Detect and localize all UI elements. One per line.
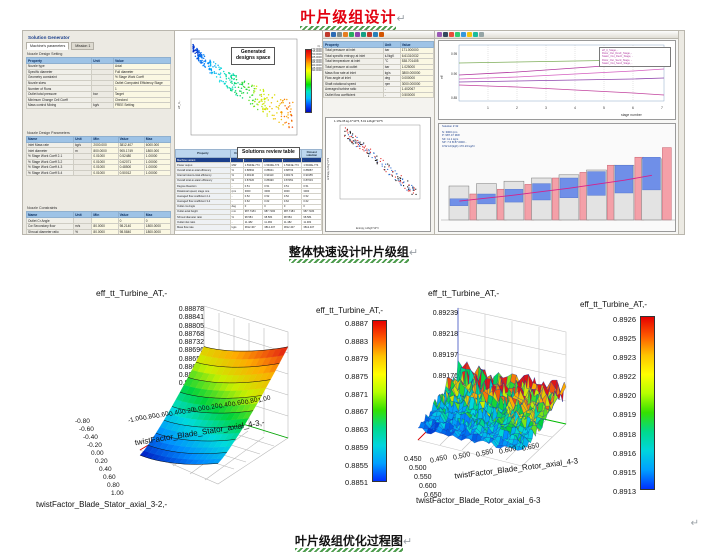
svg-text:0.90: 0.90	[451, 72, 457, 76]
tick-label: 0.00	[91, 450, 104, 457]
tick-label: -0.40	[83, 434, 98, 441]
table-row: % Stage Work Coeff 5-40.010000.500121.00…	[27, 170, 171, 176]
col-closest-solution: Closest solution	[302, 150, 322, 158]
spellcheck-underline	[295, 548, 403, 552]
toolbar	[435, 31, 684, 39]
table-row: Mass flow ratekg/s3812.4073812.4073812.4…	[176, 225, 322, 230]
paragraph-mark: ↵	[396, 13, 406, 25]
panel-solution-generator: Solution Generator Machine's parameters …	[23, 31, 175, 234]
table-row: Mass control Mixingkg/sFREE Setting	[27, 103, 171, 109]
table-row: Shroud diameter ratio%80.000098.58401800…	[27, 229, 171, 234]
caption-figure-2-text: 叶片级组优化过程图	[295, 534, 403, 548]
page-title-text: 叶片级组设计	[300, 9, 396, 26]
svg-text:0.85: 0.85	[451, 96, 457, 100]
caption-figure-2: 叶片级组优化过程图 ↵	[0, 532, 707, 549]
paragraph-mark: ↵	[403, 536, 412, 548]
right-colorbar-title: eff_tt_Turbine_AT,-	[580, 300, 647, 309]
section-label-nozzle-design-setting: Nozzle Design Setting	[27, 52, 171, 56]
chart-stage-bars: Solution # 32 N: 3000 rpm P: 987.47 MW S…	[438, 123, 676, 232]
paragraph-mark: ↵	[409, 247, 418, 259]
svg-text:1: 1	[487, 106, 489, 110]
tick-label: 0.20	[95, 458, 108, 465]
table-row: Inlet Mass ratekg/s2000.0003812.4076000.…	[27, 142, 171, 148]
tick-label: 0.450	[404, 456, 422, 463]
right-colorbar	[640, 316, 655, 490]
print-icon[interactable]	[337, 32, 342, 37]
callout-solutions-review-table: Solutions review table	[237, 147, 300, 159]
scatter-colorbar-ticks: N, - 770.0000 735.0000 700.0000 665.0000…	[311, 46, 322, 73]
callout-generated-designs-space: Generated designs space	[231, 47, 275, 65]
settings-icon[interactable]	[361, 32, 366, 37]
table-row: Outlet flow coefficient-0.500000	[324, 92, 434, 98]
table-row: % Stage Work Coeff 3-20.010000.620711.00…	[27, 159, 171, 165]
svg-text:4: 4	[574, 106, 576, 110]
tab-machines-parameters[interactable]: Machine's parameters	[26, 42, 69, 50]
panel-stage-charts: 0.95 0.90 0.85 eff 12 34 56 7 stage numb…	[435, 31, 684, 234]
refresh-icon[interactable]	[379, 32, 384, 37]
table-nozzle-design-setting: Property Unit Value Nozzle typeAxial Spe…	[26, 57, 171, 109]
chart-stage-efficiency: 0.95 0.90 0.85 eff 12 34 56 7 stage numb…	[438, 40, 676, 120]
tick-label: 0.550	[414, 474, 432, 481]
toolbar	[323, 31, 434, 39]
run-icon[interactable]	[343, 32, 348, 37]
table-nozzle-design-parameters: Name Unit Min Value Max Inlet Mass ratek…	[26, 136, 171, 177]
grid-icon[interactable]	[455, 32, 460, 37]
section-label-nozzle-design-parameters: Nozzle Design Parameters	[27, 131, 171, 135]
panel-title-solution-generator: Solution Generator	[26, 34, 171, 41]
tick-label: 0.650	[424, 492, 442, 499]
hs-scatter-svg	[326, 123, 430, 213]
tick-label: 0.500	[409, 465, 427, 472]
tab-bar: Machine's parameters Mission 1	[26, 42, 171, 50]
svg-text:7: 7	[661, 106, 663, 110]
tick-label: 0.60	[103, 474, 116, 481]
svg-text:stage number: stage number	[621, 113, 643, 117]
scatter-y-axis-label: eff_tt,-	[177, 101, 181, 109]
left-colorbar-ticks: 0.8887 0.8883 0.8879 0.8875 0.8871 0.886…	[316, 320, 368, 497]
tab-mission-1[interactable]: Mission 1	[71, 42, 94, 50]
marker-icon[interactable]	[467, 32, 472, 37]
right-plot-colorbar-group: eff_tt_Turbine_AT,- 0.8926 0.8925 0.8923…	[580, 300, 670, 500]
right-colorbar-ticks: 0.8926 0.8925 0.8923 0.8922 0.8920 0.891…	[580, 316, 636, 507]
axis-icon[interactable]	[473, 32, 478, 37]
figure-3d-optimization: eff_tt_Turbine_AT,- 0.88878 0.88841 0.88…	[18, 278, 689, 518]
zoom-icon[interactable]	[437, 32, 442, 37]
legend-stage-series: eff_tt_Stage, - Rotor_Out_DevF_Stage, - …	[599, 47, 671, 67]
stage-bars-svg	[439, 124, 677, 232]
panel-generated-designs: eff_tt,- 0.900 Power, MW Generated desig…	[175, 31, 323, 234]
left-colorbar-title: eff_tt_Turbine_AT,-	[316, 306, 383, 315]
tick-label: 0.600	[419, 483, 437, 490]
vertical-scrollbar[interactable]	[678, 31, 684, 234]
delete-icon[interactable]	[367, 32, 372, 37]
svg-text:5: 5	[603, 106, 605, 110]
plot-3d-rotor-surface: eff_tt_Turbine_AT,- 0.89239 0.89218 0.89…	[396, 288, 581, 508]
svg-text:eff: eff	[440, 75, 444, 79]
section-label-nozzle-constraints: Nozzle Constraints	[27, 206, 171, 210]
tick-label: -0.60	[79, 426, 94, 433]
tick-label: -0.80	[75, 418, 90, 425]
table-row: Cw Secondary flowm/s80.000098.21401800.0…	[27, 223, 171, 229]
spellcheck-underline	[289, 259, 409, 263]
pan-icon[interactable]	[443, 32, 448, 37]
page-title: 叶片级组设计 ↵	[0, 6, 707, 27]
left-plot-x-axis-label: twistFactor_Blade_Stator_axial_3-2,-	[36, 500, 167, 509]
open-icon[interactable]	[325, 32, 330, 37]
solutions-review-table-area: Solutions review table Property Unit Bes…	[175, 149, 322, 234]
legend-item: Stator_Out_Secd_Stage, -	[602, 62, 668, 65]
export-icon[interactable]	[373, 32, 378, 37]
tick-label: 0.40	[99, 466, 112, 473]
figure-composite-screenshot: Solution Generator Machine's parameters …	[22, 30, 685, 235]
hs-y-axis-label: Enthalpy, kJ/kg*10^3	[327, 158, 330, 180]
legend-icon[interactable]	[449, 32, 454, 37]
left-colorbar	[372, 320, 387, 482]
save-icon[interactable]	[331, 32, 336, 37]
table-solutions-review: Property Unit Best as power Best as eff …	[175, 149, 322, 231]
paragraph-mark-right: ↵	[691, 518, 699, 529]
plot-3d-stator-surface: eff_tt_Turbine_AT,- 0.88878 0.88841 0.88…	[78, 288, 313, 508]
copy-icon[interactable]	[479, 32, 484, 37]
left-plot-colorbar-group: eff_tt_Turbine_AT,- 0.8887 0.8883 0.8879…	[316, 306, 390, 496]
caption-figure-1-text: 整体快速设计叶片级组	[289, 245, 409, 259]
table-row: % Stage Work Coeff 2-10.010000.524801.00…	[27, 153, 171, 159]
col-property: Property	[176, 150, 231, 158]
tick-label: 1.00	[111, 490, 124, 497]
chart-icon[interactable]	[349, 32, 354, 37]
table-nozzle-constraints: Name Unit Min Value Max Outlet Cr Angle0…	[26, 211, 171, 234]
tick-label: -0.20	[87, 442, 102, 449]
table-row: % Stage Work Coeff 4-30.010000.485001.00…	[27, 165, 171, 171]
tick-label: 0.80	[107, 482, 120, 489]
series-icon[interactable]	[461, 32, 466, 37]
chart-enthalpy-entropy: 1.17E-05 kg-K^10^5, 5.01 kJ/kgK^10^5 Ent…	[325, 117, 431, 232]
hs-x-axis-label: Entropy, kJ/kgK*10^3	[356, 227, 379, 230]
svg-text:0.95: 0.95	[451, 52, 457, 56]
panel-properties-and-hs-chart: Property Unit Value Total pressure at in…	[323, 31, 435, 234]
svg-text:2: 2	[516, 106, 518, 110]
table-machine-properties: Property Unit Value Total pressure at in…	[323, 41, 434, 98]
svg-text:6: 6	[632, 106, 634, 110]
svg-text:3: 3	[545, 106, 547, 110]
caption-figure-1: 整体快速设计叶片级组 ↵	[0, 243, 707, 260]
table-icon[interactable]	[355, 32, 360, 37]
